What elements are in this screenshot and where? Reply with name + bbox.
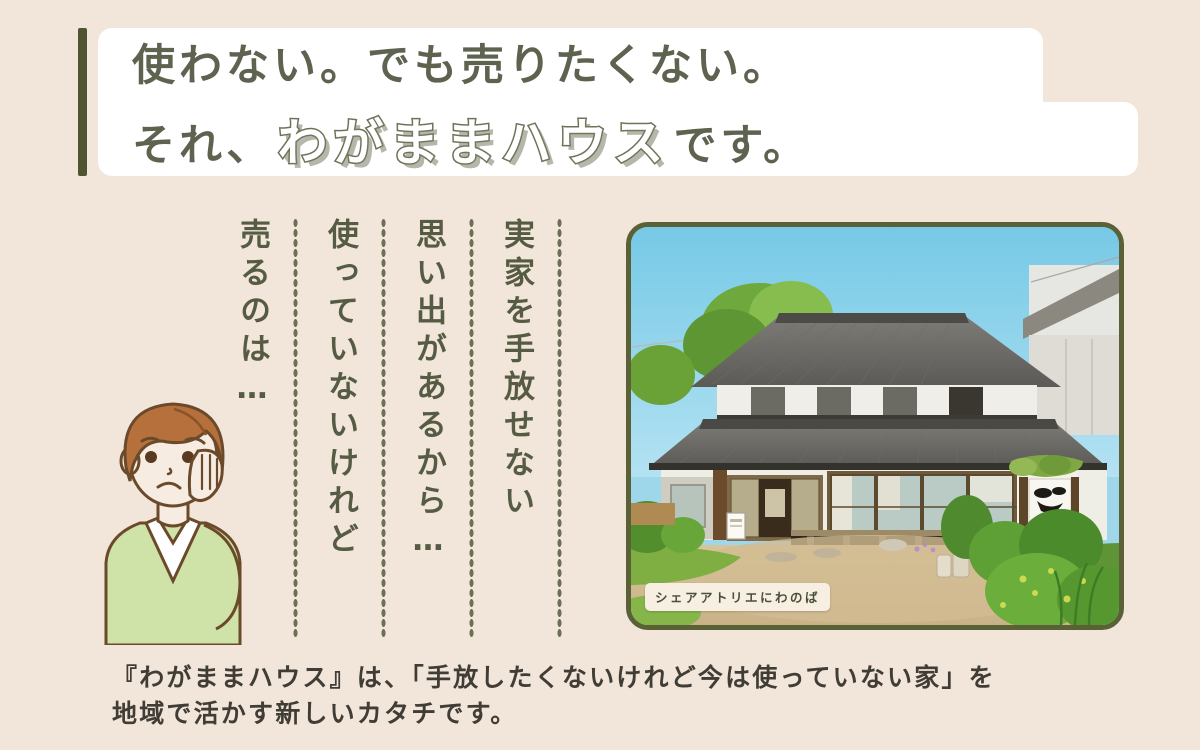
bottom-description: 『わがままハウス』は、「手放したくないけれど今は使っていない家」を 地域で活かす… <box>112 660 1112 733</box>
vertical-column-2: 思い出があるから… <box>398 218 457 638</box>
dotted-divider-1 <box>557 218 562 638</box>
bottom-line-2: 地域で活かす新しいカタチです。 <box>112 696 1112 732</box>
dotted-divider-2 <box>469 218 474 638</box>
worried-woman-illustration <box>78 385 268 645</box>
roof-ridge <box>775 313 969 323</box>
poster-canvas: 使わない。でも売りたくない。 それ、 わがままハウス です。 実家を手放せない … <box>0 0 1200 750</box>
house-photo: シェアアトリエにわのば <box>626 222 1124 630</box>
vertical-column-3: 使っていないけれど <box>310 218 369 638</box>
header-block: 使わない。でも売りたくない。 それ、 わがままハウス です。 <box>78 28 1138 178</box>
headline-card-line1: 使わない。でも売りたくない。 <box>98 28 1043 104</box>
vertical-text-group: 実家を手放せない 思い出があるから… 使っていないけれど 売るのは… <box>222 218 574 638</box>
accent-bar <box>78 28 87 176</box>
headline-line2: それ、 わがままハウス です。 <box>98 103 810 175</box>
dotted-divider-3 <box>381 218 386 638</box>
bottom-line-1: 『わがままハウス』は、「手放したくないけれど今は使っていない家」を <box>112 660 1112 696</box>
stone-basin <box>879 539 907 551</box>
headline-card-line2: それ、 わがままハウス です。 <box>98 102 1138 176</box>
headline-line2-suffix: です。 <box>673 111 810 173</box>
eye-left <box>145 451 157 463</box>
dotted-divider-4 <box>293 218 298 638</box>
vertical-column-1: 実家を手放せない <box>486 218 545 638</box>
brand-name-wagamama-house: わがままハウス <box>277 103 669 175</box>
headline-line1: 使わない。でも売りたくない。 <box>98 45 790 88</box>
pot-1 <box>937 555 951 577</box>
headline-line2-prefix: それ、 <box>132 111 273 173</box>
photo-caption: シェアアトリエにわのば <box>645 583 830 611</box>
left-structure <box>631 503 675 525</box>
